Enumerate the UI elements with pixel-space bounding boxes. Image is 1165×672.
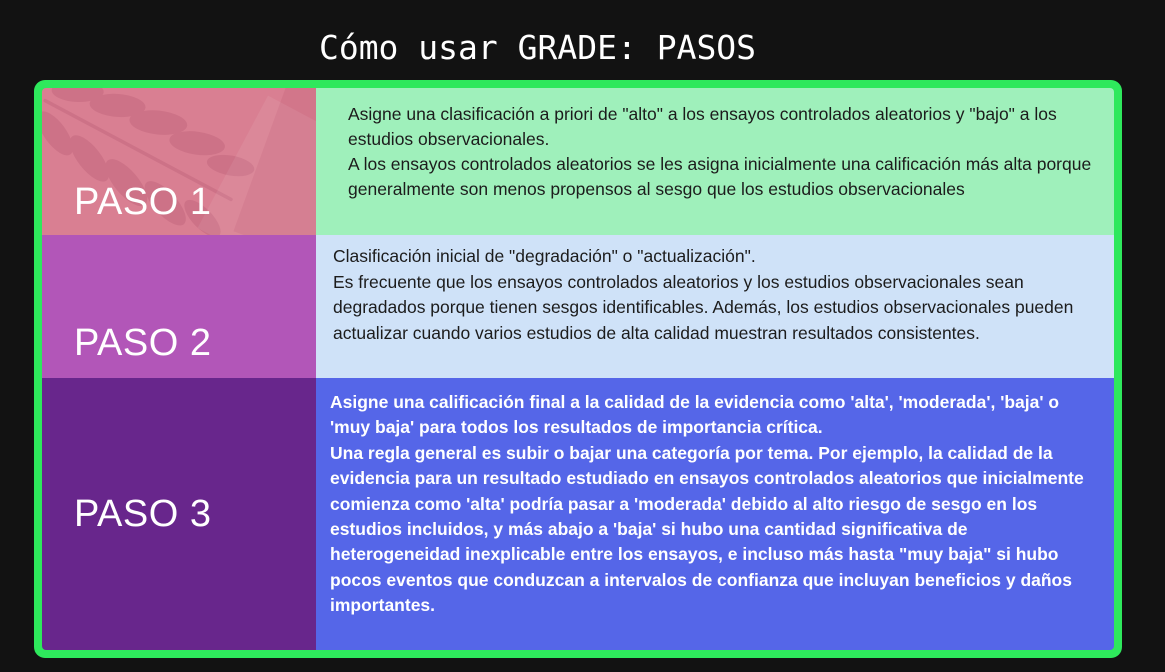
table-row: PASO 3 Asigne una calificación final a l… — [42, 378, 1114, 650]
step-label-3: PASO 3 — [42, 495, 211, 533]
step-content-cell-1: Asigne una clasificación a priori de "al… — [316, 88, 1114, 235]
table-row: PASO 2 Clasificación inicial de "degrada… — [42, 235, 1114, 378]
slide-canvas: Cómo usar GRADE: PASOS — [0, 0, 1165, 672]
step-content-cell-3: Asigne una calificación final a la calid… — [316, 378, 1114, 650]
grade-steps-table-frame: PASO 1 Asigne una clasificación a priori… — [34, 80, 1122, 658]
step-label-cell-3: PASO 3 — [42, 378, 316, 650]
step-label-cell-2: PASO 2 — [42, 235, 316, 378]
step-paragraph: Clasificación inicial de "degradación" o… — [333, 244, 1094, 270]
step-paragraph: Es frecuente que los ensayos controlados… — [333, 270, 1094, 347]
step-content-cell-2: Clasificación inicial de "degradación" o… — [316, 235, 1114, 378]
page-title: Cómo usar GRADE: PASOS — [0, 28, 1075, 67]
step-label-cell-1: PASO 1 — [42, 88, 316, 235]
step-paragraph: A los ensayos controlados aleatorios se … — [348, 152, 1094, 202]
step-paragraph: Una regla general es subir o bajar una c… — [330, 441, 1092, 619]
step-label-1: PASO 1 — [42, 183, 211, 235]
step-label-2: PASO 2 — [42, 324, 211, 378]
step-paragraph: Asigne una calificación final a la calid… — [330, 390, 1092, 441]
grade-steps-table: PASO 1 Asigne una clasificación a priori… — [42, 88, 1114, 650]
step-paragraph: Asigne una clasificación a priori de "al… — [348, 102, 1094, 152]
table-row: PASO 1 Asigne una clasificación a priori… — [42, 88, 1114, 235]
